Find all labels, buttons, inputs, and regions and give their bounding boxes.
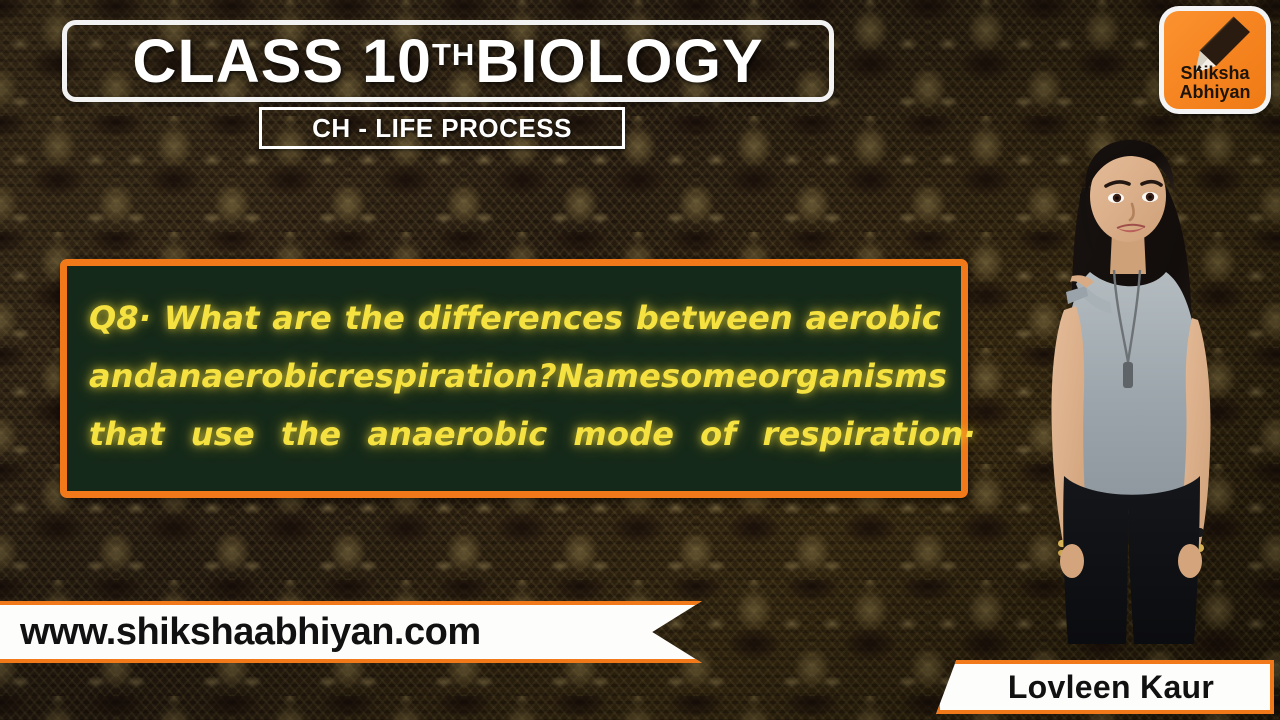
question-word: the: [345, 289, 405, 347]
brand-logo[interactable]: Shiksha Abhiyan: [1159, 6, 1271, 114]
logo-name-line2: Abhiyan: [1164, 83, 1266, 102]
question-word: between: [636, 289, 793, 347]
logo-inner-tile: Shiksha Abhiyan: [1164, 11, 1266, 109]
question-line-2: and anaerobic respiration? Name some org…: [89, 347, 941, 405]
chapter-subtitle-text: CH - LIFE PROCESS: [312, 113, 572, 144]
question-word: mode: [573, 405, 674, 463]
question-word: and: [89, 347, 157, 405]
logo-brand-name: Shiksha Abhiyan: [1164, 64, 1266, 102]
title-subject-text: BIOLOGY: [475, 26, 763, 96]
question-word: of: [700, 405, 736, 463]
title-main-text: CLASS 10: [132, 26, 432, 96]
question-word: Name: [557, 347, 661, 405]
question-line-1: Q8· What are the differences between aer…: [89, 289, 941, 347]
question-word: that: [89, 405, 165, 463]
logo-name-line1: Shiksha: [1164, 64, 1266, 83]
title-banner: CLASS 10TH BIOLOGY: [62, 20, 834, 102]
question-word: respiration·: [762, 405, 975, 463]
question-word: some: [661, 347, 758, 405]
presenter-name-text: Lovleen Kaur: [996, 669, 1214, 706]
presenter-name-banner: Lovleen Kaur: [936, 660, 1274, 714]
question-word: the: [281, 405, 341, 463]
question-word: What: [164, 289, 260, 347]
question-word: anaerobic: [367, 405, 547, 463]
question-card: Q8· What are the differences between aer…: [60, 259, 968, 498]
chapter-subtitle-banner: CH - LIFE PROCESS: [259, 107, 625, 149]
website-url-text: www.shikshaabhiyan.com: [0, 611, 481, 654]
question-word: organisms: [758, 347, 947, 405]
question-word: respiration?: [337, 347, 557, 405]
question-word: are: [272, 289, 332, 347]
video-thumbnail-slide: CLASS 10TH BIOLOGY CH - LIFE PROCESS Shi…: [0, 0, 1280, 720]
page-title: CLASS 10TH BIOLOGY: [132, 26, 763, 96]
question-word: use: [191, 405, 255, 463]
title-ordinal-suffix: TH: [432, 37, 475, 73]
question-word: aerobic: [806, 289, 941, 347]
question-line-3: that use the anaerobic mode of respirati…: [89, 405, 941, 463]
question-word: Q8·: [89, 289, 151, 347]
presenter-illustration: [1016, 124, 1256, 664]
presenter-photo: [1016, 124, 1256, 664]
website-banner[interactable]: www.shikshaabhiyan.com: [0, 601, 702, 663]
question-word: anaerobic: [157, 347, 337, 405]
question-word: differences: [418, 289, 624, 347]
